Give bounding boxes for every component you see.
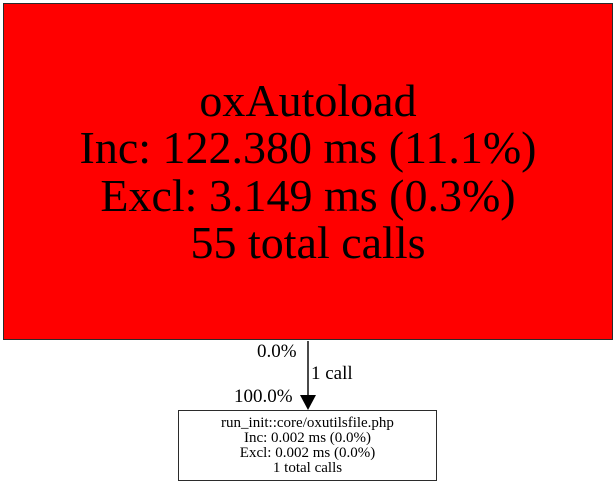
node-inclusive-oxautoload: Inc: 122.380 ms (11.1%) <box>80 124 537 171</box>
node-exclusive-oxautoload: Excl: 3.149 ms (0.3%) <box>100 172 515 219</box>
node-title-run-init-oxutilsfile: run_init::core/oxutilsfile.php <box>221 416 394 431</box>
graph-edge-arrowhead-icon <box>300 395 316 410</box>
edge-label-head-percent: 100.0% <box>234 387 293 406</box>
graph-edge-line <box>307 341 309 398</box>
node-exclusive-run-init-oxutilsfile: Excl: 0.002 ms (0.0%) <box>240 446 375 461</box>
node-calls-run-init-oxutilsfile: 1 total calls <box>273 461 342 476</box>
edge-label-tail-percent: 0.0% <box>257 342 297 361</box>
edge-label-call-count: 1 call <box>311 364 353 383</box>
call-graph-canvas: oxAutoload Inc: 122.380 ms (11.1%) Excl:… <box>0 0 616 496</box>
graph-node-run-init-oxutilsfile[interactable]: run_init::core/oxutilsfile.php Inc: 0.00… <box>178 410 437 481</box>
node-inclusive-run-init-oxutilsfile: Inc: 0.002 ms (0.0%) <box>244 431 371 446</box>
node-calls-oxautoload: 55 total calls <box>190 219 425 266</box>
node-title-oxautoload: oxAutoload <box>199 77 416 124</box>
graph-node-oxautoload[interactable]: oxAutoload Inc: 122.380 ms (11.1%) Excl:… <box>3 3 613 340</box>
